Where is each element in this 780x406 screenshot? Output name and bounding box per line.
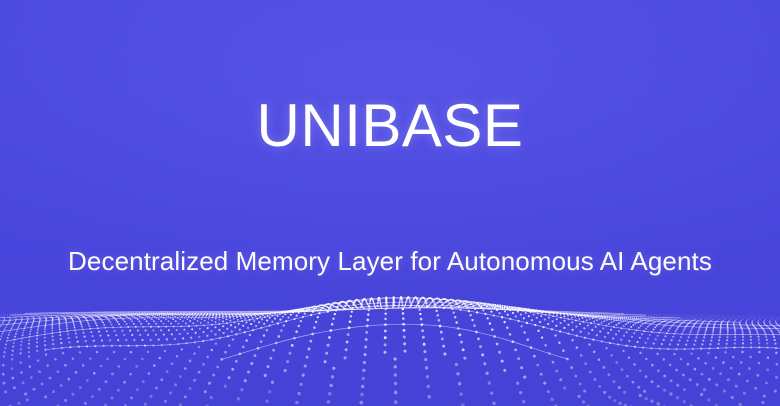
background-gradient bbox=[0, 0, 780, 406]
page-subtitle: Decentralized Memory Layer for Autonomou… bbox=[0, 248, 780, 274]
presentation-slide: UNIBASE Decentralized Memory Layer for A… bbox=[0, 0, 780, 406]
page-title: UNIBASE bbox=[0, 96, 780, 156]
dot-wave-mesh-decoration bbox=[0, 0, 780, 406]
